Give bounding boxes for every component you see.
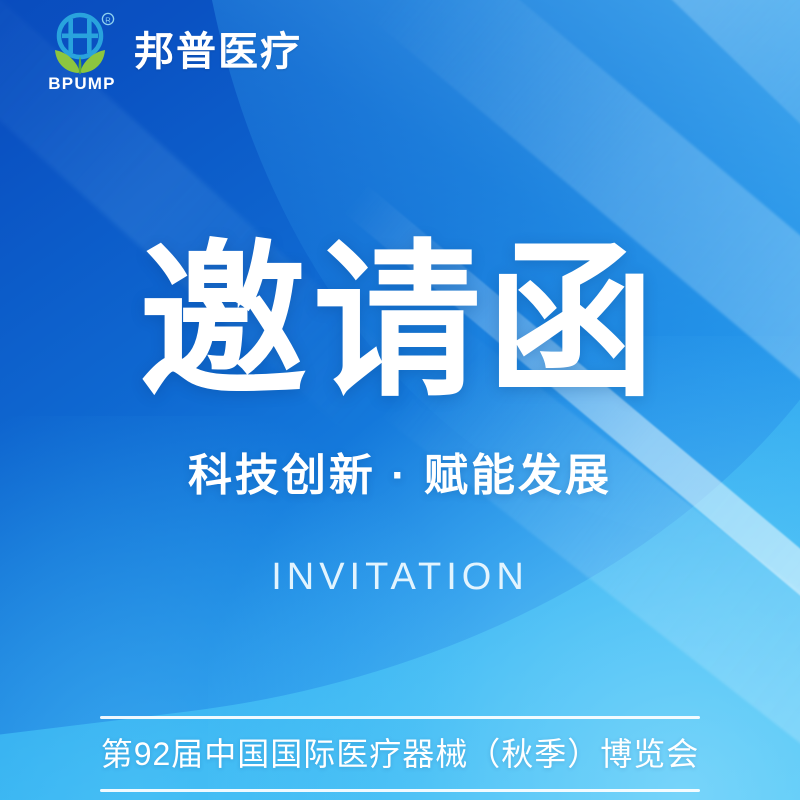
invitation-english-label: INVITATION	[271, 558, 529, 596]
footer-block: 第92届中国国际医疗器械（秋季）博览会	[100, 716, 700, 792]
svg-text:R: R	[105, 15, 111, 24]
poster-content: 邀请函 科技创新 · 赋能发展 INVITATION	[0, 0, 800, 800]
bpump-wordmark: BPUMP	[46, 75, 118, 92]
invitation-poster: R BPUMP 邦普医疗 邀请函 科技创新 · 赋能发展 INVITATION …	[0, 0, 800, 800]
divider-line-bottom	[100, 789, 700, 792]
poster-subtitle: 科技创新 · 赋能发展	[188, 454, 612, 498]
bpump-emblem-icon: R BPUMP	[46, 10, 118, 94]
headline-invitation: 邀请函	[139, 238, 661, 406]
company-name: 邦普医疗	[134, 32, 302, 72]
brand-header: R BPUMP 邦普医疗	[0, 0, 800, 104]
event-name: 第92届中国国际医疗器械（秋季）博览会	[100, 719, 700, 789]
